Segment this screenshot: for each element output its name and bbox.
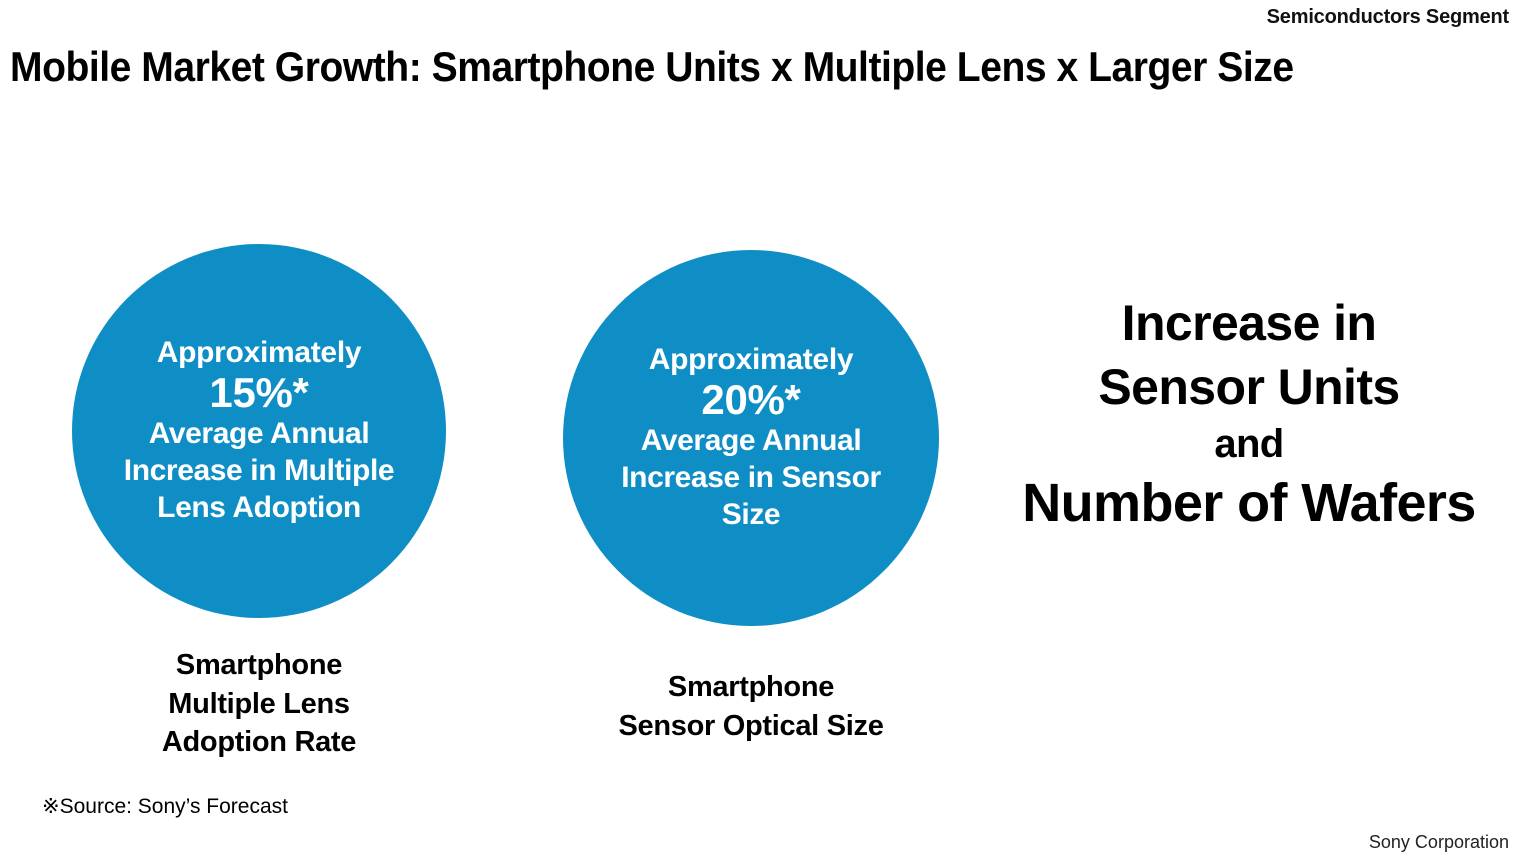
conclusion-line: Sensor Units bbox=[985, 356, 1513, 420]
slide: Semiconductors Segment Mobile Market Gro… bbox=[0, 0, 1523, 861]
circle-description: Average Annual Increase in Sensor Size bbox=[615, 423, 887, 533]
circle-percent-value: 20%* bbox=[701, 376, 800, 423]
corporation-footer: Sony Corporation bbox=[1369, 832, 1509, 853]
caption-line: Sensor Optical Size bbox=[541, 707, 961, 746]
caption-line: Smartphone bbox=[72, 646, 446, 685]
circle-description-line: Increase in Sensor bbox=[621, 460, 881, 497]
circle-description-line: Increase in Multiple bbox=[124, 453, 394, 490]
conclusion-block: Increase in Sensor Units and Number of W… bbox=[985, 292, 1513, 537]
conclusion-line: Number of Wafers bbox=[985, 470, 1513, 537]
circle-percent-value: 15%* bbox=[209, 369, 308, 416]
source-note: ※Source: Sony’s Forecast bbox=[42, 794, 288, 819]
conclusion-line: Increase in bbox=[985, 292, 1513, 356]
segment-label: Semiconductors Segment bbox=[1267, 6, 1509, 29]
caption-line: Multiple Lens bbox=[72, 685, 446, 724]
metric-circle-sensor-size: Approximately 20%* Average Annual Increa… bbox=[563, 250, 939, 626]
circle-description-line: Average Annual bbox=[124, 416, 394, 453]
circle-description-line: Size bbox=[621, 497, 881, 534]
circle-description-line: Lens Adoption bbox=[124, 490, 394, 527]
circle-description: Average Annual Increase in Multiple Lens… bbox=[118, 416, 400, 526]
caption-line: Smartphone bbox=[541, 668, 961, 707]
circle-description-line: Average Annual bbox=[621, 423, 881, 460]
circle-lead-text: Approximately bbox=[649, 343, 854, 377]
conclusion-line: and bbox=[985, 419, 1513, 470]
page-title: Mobile Market Growth: Smartphone Units x… bbox=[10, 43, 1408, 91]
circle-lead-text: Approximately bbox=[157, 336, 362, 370]
caption-multiple-lens: Smartphone Multiple Lens Adoption Rate bbox=[72, 646, 446, 762]
caption-sensor-optical-size: Smartphone Sensor Optical Size bbox=[541, 668, 961, 745]
metric-circle-multiple-lens: Approximately 15%* Average Annual Increa… bbox=[72, 244, 446, 618]
caption-line: Adoption Rate bbox=[72, 723, 446, 762]
